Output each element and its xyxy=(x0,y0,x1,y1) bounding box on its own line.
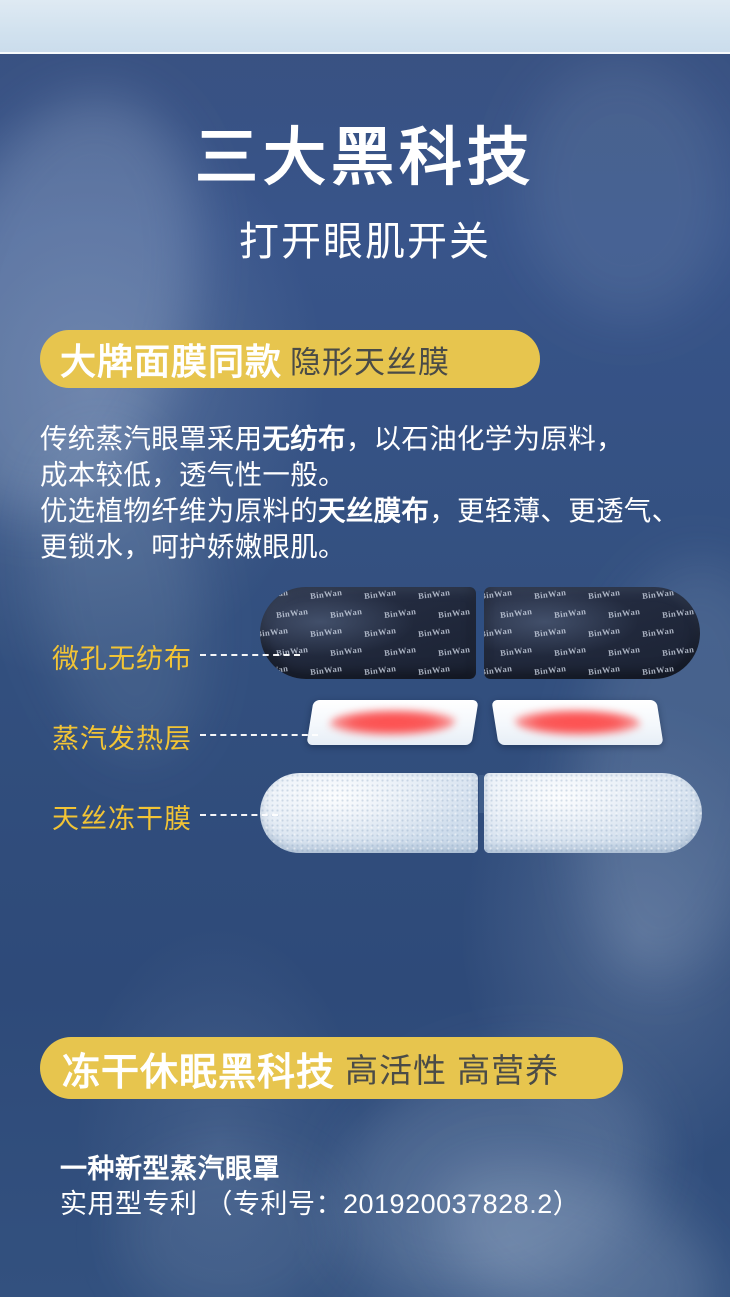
paragraph-line1-c: ，以石油化学为原料， xyxy=(346,423,624,454)
brand-mark: BinWan xyxy=(588,587,621,601)
paragraph-line3-c: ，更轻薄、更透气、 xyxy=(429,495,679,526)
tencel-seam xyxy=(479,775,484,813)
top-light-strip xyxy=(0,0,730,54)
brand-mark: BinWan xyxy=(484,625,513,639)
brand-mark: BinWan xyxy=(438,644,471,658)
brand-mark-grid: BinWanBinWanBinWanBinWanBinWanBinWanBinW… xyxy=(260,587,476,679)
callout-label-tencel: 天丝冻干膜 xyxy=(52,797,192,836)
brand-mark: BinWan xyxy=(608,606,641,620)
tencel-freeze-dried-film-layer xyxy=(260,773,702,853)
brand-mark: BinWan xyxy=(364,625,397,639)
paragraph-line2: 成本较低，透气性一般。 xyxy=(40,459,346,490)
paragraph-line3-a: 优选植物纤维为原料的 xyxy=(40,495,318,526)
callout-label-heating: 蒸汽发热层 xyxy=(52,717,192,756)
section2-banner: 冻干休眠黑科技 高活性 高营养 xyxy=(40,1037,623,1099)
nonwoven-left-half: BinWanBinWanBinWanBinWanBinWanBinWanBinW… xyxy=(260,587,476,679)
page-subtitle: 打开眼肌开关 xyxy=(0,222,730,262)
nonwoven-seam xyxy=(476,591,484,675)
brand-mark: BinWan xyxy=(310,663,343,677)
brand-mark: BinWan xyxy=(330,644,363,658)
paragraph-line1-bold: 无纺布 xyxy=(262,423,345,454)
brand-mark: BinWan xyxy=(418,587,451,601)
paragraph-line3-bold: 天丝膜布 xyxy=(318,495,429,526)
brand-mark: BinWan xyxy=(500,606,533,620)
brand-mark: BinWan xyxy=(500,644,533,658)
callout-leader-line xyxy=(200,654,300,656)
brand-mark: BinWan xyxy=(642,587,675,601)
brand-mark: BinWan xyxy=(642,625,675,639)
nonwoven-right-half: BinWanBinWanBinWanBinWanBinWanBinWanBinW… xyxy=(484,587,700,679)
brand-mark: BinWan xyxy=(642,663,675,677)
brand-mark: BinWan xyxy=(484,587,513,601)
brand-mark: BinWan xyxy=(384,606,417,620)
brand-mark-grid: BinWanBinWanBinWanBinWanBinWanBinWanBinW… xyxy=(484,587,700,679)
brand-mark: BinWan xyxy=(554,606,587,620)
patent-name: 一种新型蒸汽眼罩 xyxy=(60,1152,700,1186)
brand-mark: BinWan xyxy=(310,587,343,601)
brand-mark: BinWan xyxy=(260,587,289,601)
paragraph-line1-a: 传统蒸汽眼罩采用 xyxy=(40,423,262,454)
brand-mark: BinWan xyxy=(554,644,587,658)
section1-banner: 大牌面膜同款 隐形天丝膜 xyxy=(40,330,540,388)
section1-banner-strong: 大牌面膜同款 xyxy=(60,333,282,385)
promo-page: 三大黑科技 打开眼肌开关 大牌面膜同款 隐形天丝膜 传统蒸汽眼罩采用无纺布，以石… xyxy=(0,0,730,1297)
brand-mark: BinWan xyxy=(260,663,289,677)
brand-mark: BinWan xyxy=(662,606,695,620)
brand-mark: BinWan xyxy=(662,644,695,658)
brand-mark: BinWan xyxy=(276,606,309,620)
page-title: 三大黑科技 xyxy=(0,127,730,190)
brand-mark: BinWan xyxy=(384,644,417,658)
section2-banner-strong: 冻干休眠黑科技 xyxy=(62,1041,335,1096)
brand-mark: BinWan xyxy=(364,587,397,601)
brand-mark: BinWan xyxy=(588,625,621,639)
tencel-left-half xyxy=(260,773,478,853)
brand-mark: BinWan xyxy=(534,587,567,601)
brand-mark: BinWan xyxy=(534,663,567,677)
brand-mark: BinWan xyxy=(330,606,363,620)
section1-banner-sub: 隐形天丝膜 xyxy=(290,337,450,382)
brand-mark: BinWan xyxy=(438,606,471,620)
tencel-texture xyxy=(260,773,478,853)
brand-mark: BinWan xyxy=(418,663,451,677)
tencel-texture xyxy=(484,773,702,853)
brand-mark: BinWan xyxy=(364,663,397,677)
paragraph-line4: 更锁水，呵护娇嫩眼肌。 xyxy=(40,531,346,562)
section1-paragraph: 传统蒸汽眼罩采用无纺布，以石油化学为原料， 成本较低，透气性一般。 优选植物纤维… xyxy=(40,421,705,565)
brand-mark: BinWan xyxy=(588,663,621,677)
micro-porous-nonwoven-layer: BinWanBinWanBinWanBinWanBinWanBinWanBinW… xyxy=(260,587,700,679)
brand-mark: BinWan xyxy=(310,625,343,639)
brand-mark: BinWan xyxy=(608,644,641,658)
callout-label-nonwoven: 微孔无纺布 xyxy=(52,637,192,676)
smoke-wisp xyxy=(507,50,730,331)
brand-mark: BinWan xyxy=(484,663,513,677)
steam-heating-pad-left xyxy=(306,700,478,745)
tencel-right-half xyxy=(484,773,702,853)
steam-heating-pad-right xyxy=(491,700,663,745)
brand-mark: BinWan xyxy=(418,625,451,639)
section2-banner-sub: 高活性 高营养 xyxy=(345,1044,559,1092)
patent-detail: 实用型专利 （专利号：201920037828.2） xyxy=(60,1186,700,1222)
callout-leader-line xyxy=(200,814,278,816)
product-layer-diagram: BinWanBinWanBinWanBinWanBinWanBinWanBinW… xyxy=(0,575,730,995)
brand-mark: BinWan xyxy=(534,625,567,639)
patent-block: 一种新型蒸汽眼罩 实用型专利 （专利号：201920037828.2） xyxy=(60,1152,700,1222)
callout-leader-line xyxy=(200,734,318,736)
brand-mark: BinWan xyxy=(260,625,289,639)
